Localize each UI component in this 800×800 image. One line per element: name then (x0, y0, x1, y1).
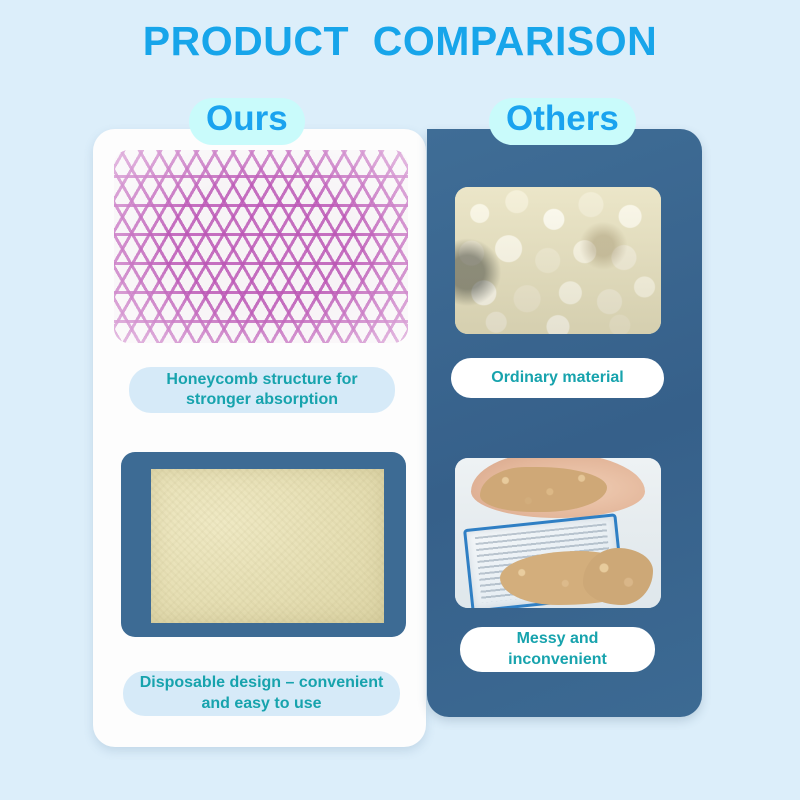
granule-pile (583, 548, 653, 605)
caption-messy-inconvenient: Messy and inconvenient (460, 627, 655, 672)
honeycomb-vignette (114, 150, 408, 343)
caption-honeycomb: Honeycomb structure for stronger absorpt… (129, 367, 395, 413)
caption-ordinary-material: Ordinary material (451, 358, 664, 398)
silica-beads-image (455, 187, 661, 334)
column-header-others: Others (489, 98, 636, 145)
caption-disposable: Disposable design – convenient and easy … (123, 671, 400, 716)
column-header-ours: Ours (189, 98, 305, 145)
page-title: PRODUCT COMPARISON (0, 18, 800, 65)
cloth-surface (151, 469, 384, 623)
beads-shading (455, 187, 661, 334)
absorbent-cloth-image (121, 452, 406, 637)
messy-spill-image (455, 458, 661, 608)
honeycomb-pad-image (114, 150, 408, 343)
